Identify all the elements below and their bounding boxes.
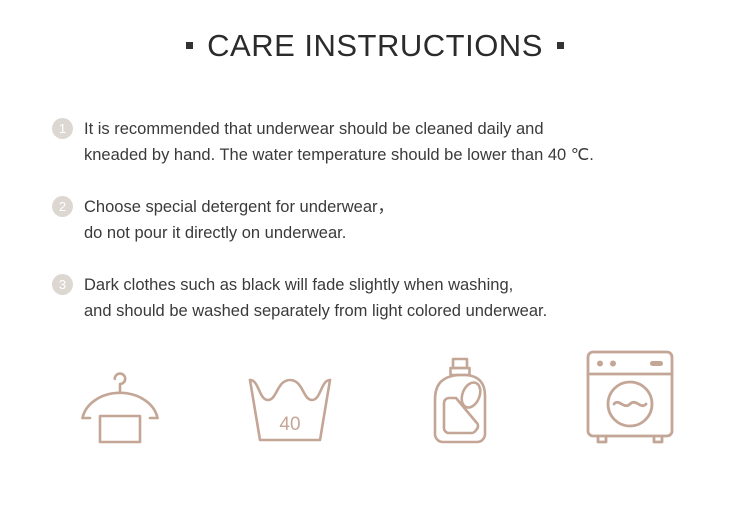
care-symbol-cell	[405, 346, 515, 446]
list-item-line: kneaded by hand. The water temperature s…	[84, 142, 712, 168]
square-bullet-left-icon	[186, 42, 193, 49]
list-item-line: Choose special detergent for underwear，	[84, 194, 712, 220]
square-bullet-right-icon	[557, 42, 564, 49]
care-symbols-row: 40	[0, 336, 750, 446]
list-item: 3 Dark clothes such as black will fade s…	[52, 272, 712, 324]
list-item-line: and should be washed separately from lig…	[84, 298, 712, 324]
list-item: 2 Choose special detergent for underwear…	[52, 194, 712, 246]
washing-machine-icon	[584, 348, 676, 446]
list-item-line: do not pour it directly on underwear.	[84, 220, 712, 246]
page-title: CARE INSTRUCTIONS	[207, 30, 543, 61]
list-item-text: Dark clothes such as black will fade sli…	[84, 272, 712, 324]
care-instructions-list: 1 It is recommended that underwear shoul…	[52, 116, 712, 350]
list-number-badge: 1	[52, 118, 73, 139]
list-item-line: Dark clothes such as black will fade sli…	[84, 272, 712, 298]
detergent-bottle-icon	[428, 356, 492, 446]
list-number-badge: 2	[52, 196, 73, 217]
care-symbol-cell	[65, 346, 175, 446]
list-item-text: It is recommended that underwear should …	[84, 116, 712, 168]
wash-temperature-label: 40	[279, 414, 300, 435]
list-item-text: Choose special detergent for underwear， …	[84, 194, 712, 246]
page-title-row: CARE INSTRUCTIONS	[0, 30, 750, 61]
list-item: 1 It is recommended that underwear shoul…	[52, 116, 712, 168]
wash-tub-icon: 40	[245, 366, 335, 446]
care-symbol-cell	[575, 346, 685, 446]
care-symbol-cell: 40	[235, 346, 345, 446]
list-number-badge: 3	[52, 274, 73, 295]
hanger-icon	[72, 366, 168, 446]
list-item-line: It is recommended that underwear should …	[84, 116, 712, 142]
